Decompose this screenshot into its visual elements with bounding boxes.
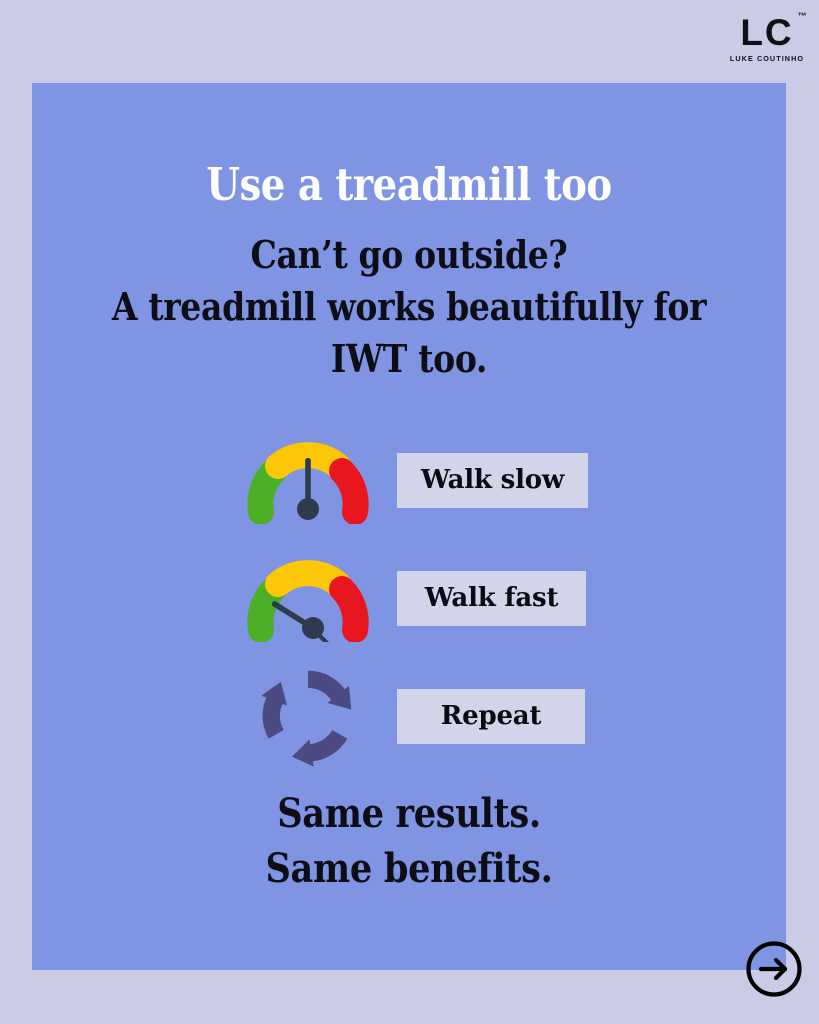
step-label-repeat: Repeat: [397, 689, 585, 744]
list-item: Repeat: [32, 657, 786, 775]
gauge-needle-left-icon: [234, 548, 382, 648]
brand-logo: LC ™ LUKE COUTINHO: [727, 14, 807, 63]
closing-statement: Same results. Same benefits.: [77, 786, 741, 896]
subtitle-line-1: Can’t go outside?: [81, 229, 737, 281]
infographic-card: Use a treadmill too Can’t go outside? A …: [32, 83, 786, 970]
list-item: Walk slow: [32, 421, 786, 539]
closing-line-1: Same results.: [77, 786, 741, 841]
step-label-walk-slow: Walk slow: [397, 453, 588, 508]
logo-brand-name: LUKE COUTINHO: [727, 54, 807, 63]
trademark-icon: ™: [798, 12, 807, 21]
logo-lc-mark: LC: [740, 14, 793, 51]
arrow-right-circle-icon[interactable]: [744, 939, 804, 999]
gauge-needle-up-icon: [234, 430, 382, 530]
subtitle: Can’t go outside? A treadmill works beau…: [81, 229, 737, 385]
step-label-walk-fast: Walk fast: [397, 571, 586, 626]
next-slide-button[interactable]: [744, 939, 804, 999]
list-item: Walk fast: [32, 539, 786, 657]
page-title: Use a treadmill too: [85, 162, 733, 207]
subtitle-line-2: A treadmill works beautifully for: [81, 281, 737, 333]
closing-line-2: Same benefits.: [77, 841, 741, 896]
logo-mark-row: LC ™: [740, 14, 793, 51]
steps-list: Walk slow: [32, 421, 786, 775]
subtitle-line-3: IWT too.: [81, 333, 737, 385]
repeat-cycle-icon: [234, 666, 382, 766]
